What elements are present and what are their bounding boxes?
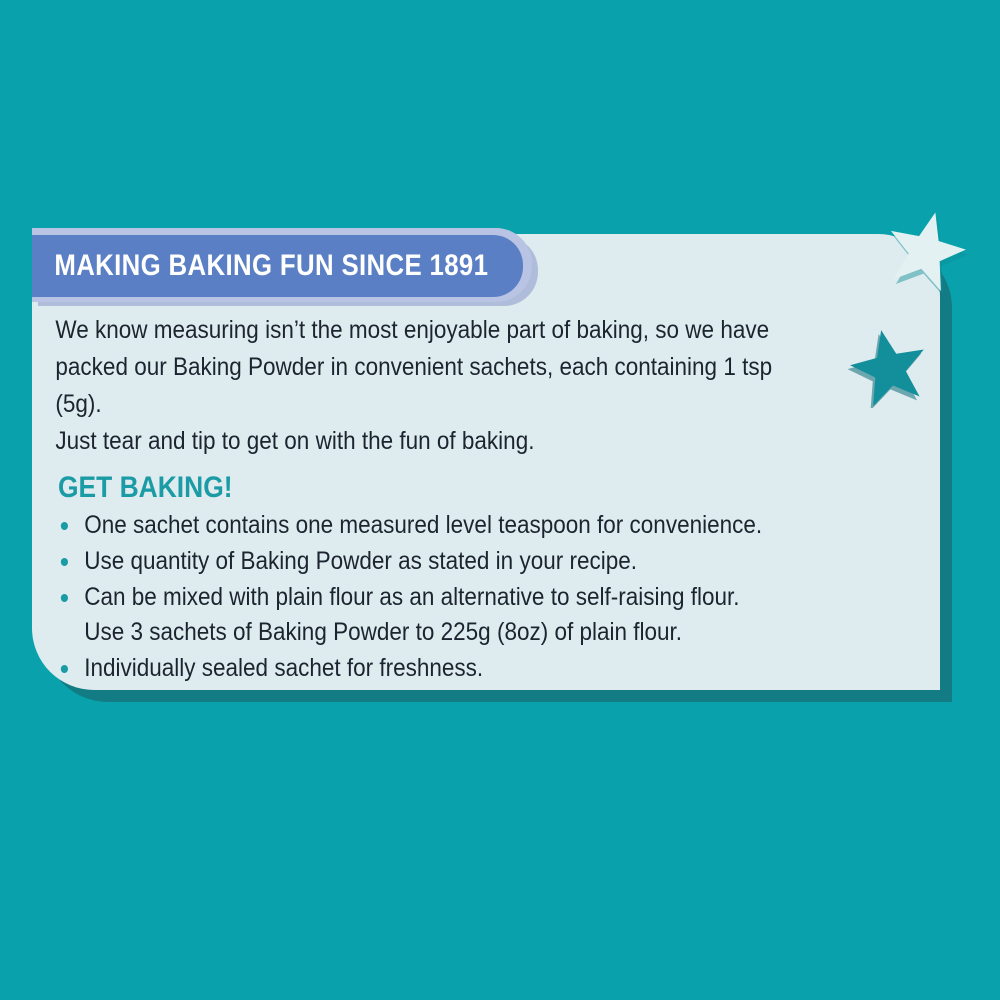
section-heading-get-baking: GET BAKING! bbox=[58, 471, 834, 505]
bullet-dot-icon bbox=[61, 522, 68, 530]
header-tab-band: MAKING BAKING FUN SINCE 1891 bbox=[32, 235, 523, 297]
bullet-dot-icon bbox=[61, 594, 68, 602]
bullet-dot-icon bbox=[61, 665, 68, 673]
product-info-panel: MAKING BAKING FUN SINCE 1891 We know mea… bbox=[0, 0, 1000, 1000]
list-item: Can be mixed with plain flour as an alte… bbox=[55, 580, 937, 650]
list-item: One sachet contains one measured level t… bbox=[55, 508, 937, 543]
list-item-subtext: Use 3 sachets of Baking Powder to 225g (… bbox=[84, 615, 937, 650]
header-title: MAKING BAKING FUN SINCE 1891 bbox=[32, 249, 488, 283]
intro-line-1: We know measuring isn’t the most enjoyab… bbox=[55, 312, 806, 349]
intro-line-2: packed our Baking Powder in convenient s… bbox=[55, 349, 806, 423]
list-item-text: Can be mixed with plain flour as an alte… bbox=[84, 583, 739, 611]
list-item: Individually sealed sachet for freshness… bbox=[55, 651, 937, 686]
intro-line-3: Just tear and tip to get on with the fun… bbox=[55, 423, 806, 460]
list-item-text: Individually sealed sachet for freshness… bbox=[84, 654, 483, 682]
bullet-dot-icon bbox=[61, 558, 68, 566]
list-item-text: One sachet contains one measured level t… bbox=[84, 511, 762, 539]
intro-paragraph: We know measuring isn’t the most enjoyab… bbox=[32, 312, 878, 460]
list-item-text: Use quantity of Baking Powder as stated … bbox=[84, 547, 637, 575]
list-item: Use quantity of Baking Powder as stated … bbox=[55, 544, 937, 579]
instructions-list: One sachet contains one measured level t… bbox=[32, 508, 937, 686]
